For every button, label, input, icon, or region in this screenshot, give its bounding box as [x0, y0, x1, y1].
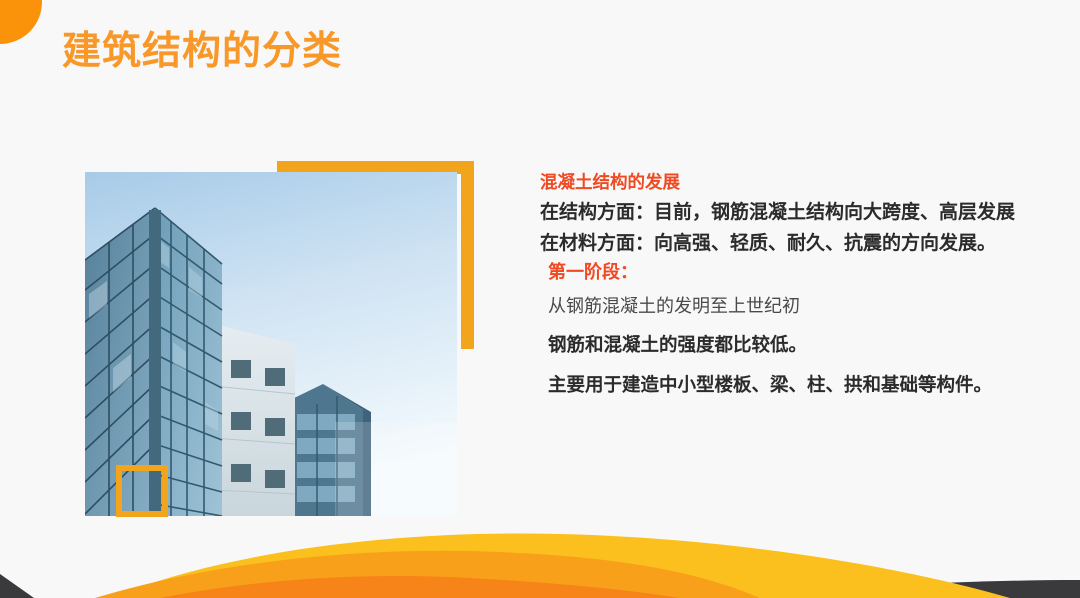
block-two-heading: 第一阶段：: [548, 259, 1060, 287]
block-two-line-3: 主要用于建造中小型楼板、梁、柱、拱和基础等构件。: [548, 366, 1060, 406]
content-block-two: 第一阶段： 从钢筋混凝土的发明至上世纪初 钢筋和混凝土的强度都比较低。 主要用于…: [540, 259, 1060, 406]
content-block-one: 混凝土结构的发展 在结构方面：目前，钢筋混凝土结构向大跨度、高层发展 在材料方面…: [540, 170, 1060, 259]
page-title: 建筑结构的分类: [62, 28, 342, 77]
corner-circle-decoration: [0, 0, 42, 44]
block-one-line-2: 在材料方面：向高强、轻质、耐久、抗震的方向发展。: [540, 228, 1060, 259]
slide-body-text: 混凝土结构的发展 在结构方面：目前，钢筋混凝土结构向大跨度、高层发展 在材料方面…: [540, 170, 1060, 406]
block-one-line-1: 在结构方面：目前，钢筋混凝土结构向大跨度、高层发展: [540, 197, 1060, 228]
wave-dark-left-triangle: [0, 574, 34, 598]
block-two-line-1: 从钢筋混凝土的发明至上世纪初: [548, 287, 1060, 326]
photo-square-marker-decoration: [116, 465, 168, 517]
bottom-wave-shapes: [0, 528, 1080, 598]
bottom-wave-decoration: [0, 528, 1080, 598]
presentation-slide: 建筑结构的分类: [0, 0, 1080, 598]
block-one-heading: 混凝土结构的发展: [540, 170, 1060, 197]
block-two-line-2: 钢筋和混凝土的强度都比较低。: [548, 326, 1060, 366]
